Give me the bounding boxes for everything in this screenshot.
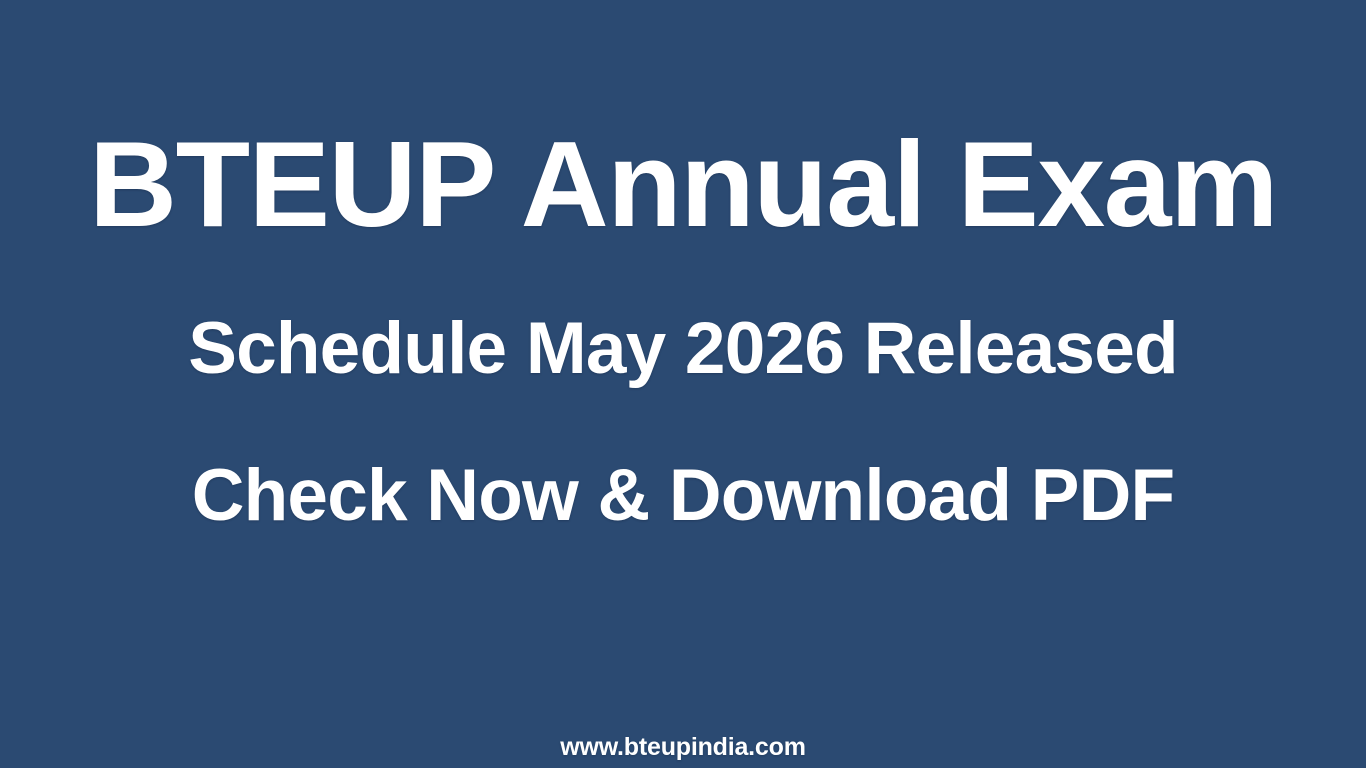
banner-title-line-1: BTEUP Annual Exam <box>0 123 1366 245</box>
banner-title-line-2: Schedule May 2026 Released <box>0 312 1366 385</box>
promo-banner: BTEUP Annual Exam Schedule May 2026 Rele… <box>0 0 1366 768</box>
banner-footer: www.bteupindia.com <box>0 735 1366 760</box>
headline-block: BTEUP Annual Exam Schedule May 2026 Rele… <box>0 0 1366 690</box>
website-url: www.bteupindia.com <box>560 735 806 760</box>
banner-title-line-3: Check Now & Download PDF <box>0 459 1366 532</box>
